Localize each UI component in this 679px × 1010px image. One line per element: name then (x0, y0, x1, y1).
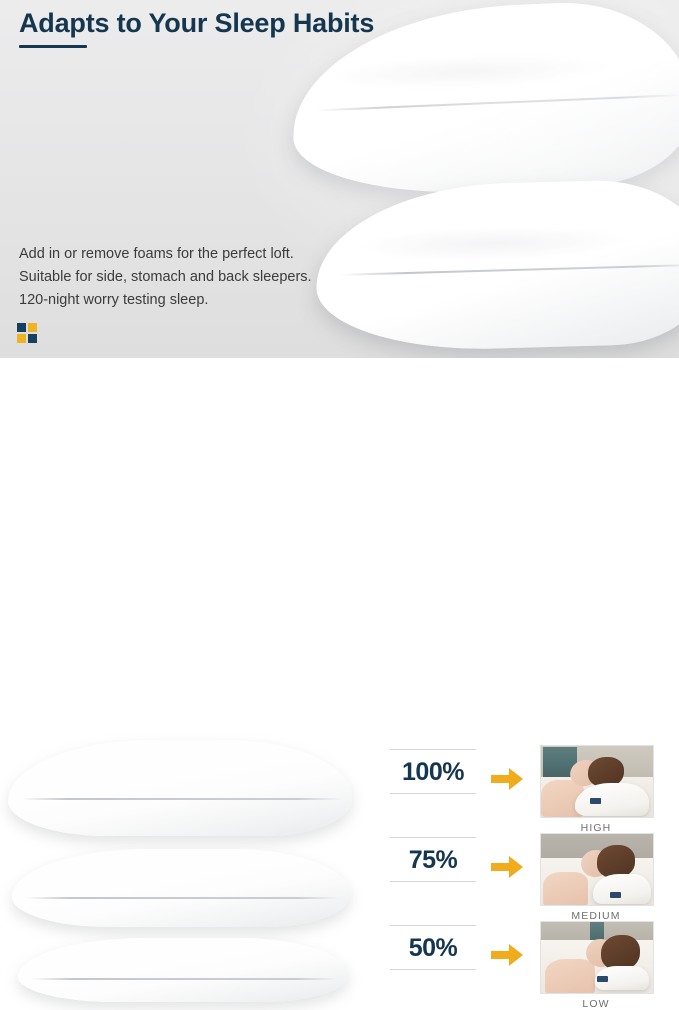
scene-person-body (543, 872, 588, 906)
feature-item: Suitable for side, stomach and back slee… (19, 266, 312, 289)
sleep-photo-medium (540, 833, 654, 906)
title-underline (19, 45, 87, 48)
arrow-right-icon (490, 766, 524, 792)
pillow-body (12, 849, 350, 927)
loft-row-low: 50% LOW (382, 916, 672, 1004)
scene-person-body (545, 959, 594, 994)
logo-square-gold-tr (28, 323, 37, 332)
arrow-right-icon (490, 854, 524, 880)
loft-row-medium: 75% MEDIUM (382, 828, 672, 916)
pillow-seam (26, 897, 340, 899)
scene-pillow-tag (590, 798, 601, 804)
thumbnail-medium: MEDIUM (540, 833, 658, 922)
percent-block: 100% (390, 749, 476, 794)
percent-block: 75% (390, 837, 476, 882)
feature-item: 120-night worry testing sleep. (19, 289, 312, 312)
pillow-seam (22, 798, 342, 800)
arrow-right-icon (490, 942, 524, 968)
sleep-photo-high (540, 745, 654, 818)
loft-caption: LOW (540, 998, 652, 1010)
percent-value: 100% (390, 757, 476, 787)
feature-list: Add in or remove foams for the perfect l… (19, 243, 312, 312)
loft-comparison-section: 100% HIGH (0, 358, 679, 647)
scene-pillow-tag (597, 976, 608, 982)
scene-pillow (593, 874, 651, 904)
loft-pillow-low-image (18, 938, 348, 1002)
thumbnail-low: LOW (540, 921, 658, 1010)
scene-pillow-tag (610, 892, 621, 898)
photo-scene (541, 746, 653, 817)
pillow-body (8, 740, 352, 836)
pillow-seam (31, 978, 338, 980)
photo-scene (541, 834, 653, 905)
pillow-body (18, 938, 348, 1002)
logo-square-gold-bl (17, 334, 26, 343)
checkerboard-logo-icon (17, 323, 38, 344)
feature-item: Add in or remove foams for the perfect l… (19, 243, 312, 266)
page-title: Adapts to Your Sleep Habits (19, 8, 374, 39)
loft-pillow-medium-image (12, 849, 350, 927)
scene-person-hair (601, 935, 639, 971)
photo-scene (541, 922, 653, 993)
loft-row-high: 100% HIGH (382, 740, 672, 828)
percent-block: 50% (390, 925, 476, 970)
hero-section: Adapts to Your Sleep Habits Add in or re… (0, 0, 679, 358)
logo-square-navy-br (28, 334, 37, 343)
percent-value: 75% (390, 845, 476, 875)
hero-pillow-bottom-image (314, 178, 679, 354)
thumbnail-high: HIGH (540, 745, 658, 834)
sleep-photo-low (540, 921, 654, 994)
loft-pillow-high-image (8, 740, 352, 836)
logo-square-navy-tl (17, 323, 26, 332)
percent-value: 50% (390, 933, 476, 963)
